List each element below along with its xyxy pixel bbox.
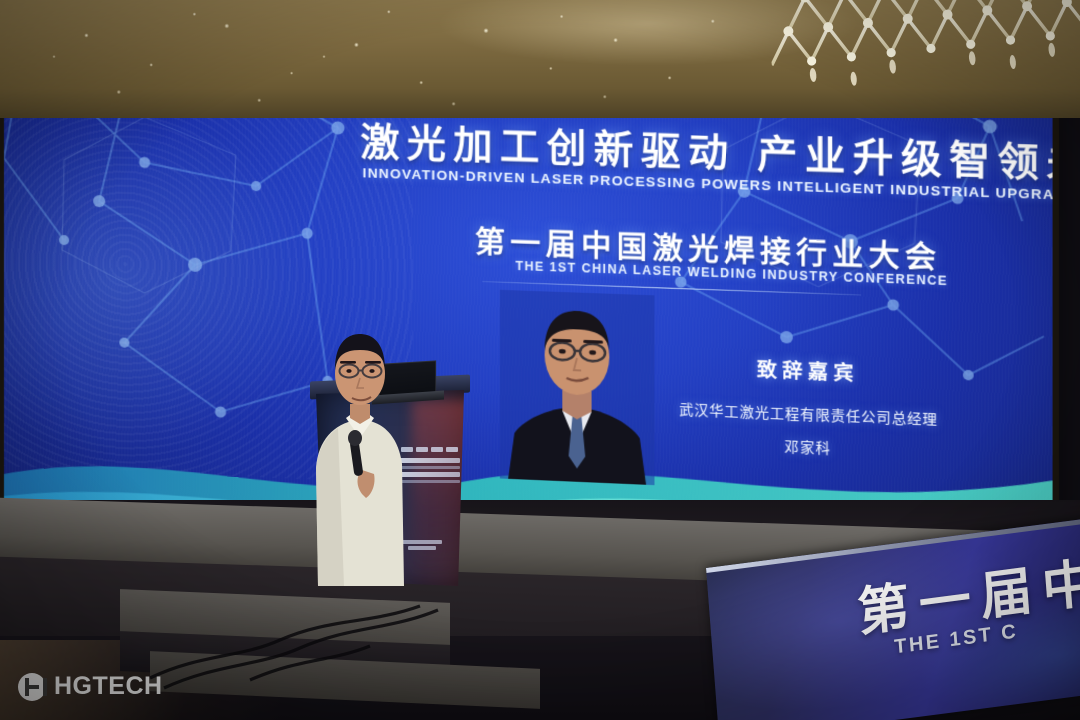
presenter-person [300,318,420,588]
speaker-role-label: 致辞嘉宾 [676,352,942,390]
speaker-info-block: 致辞嘉宾 武汉华工激光工程有限责任公司总经理 邓家科 [676,352,942,463]
podium-accent-light [412,400,474,580]
speaker-organization: 武汉华工激光工程有限责任公司总经理 [676,398,942,429]
floor-cables [120,600,640,720]
hgtech-brand-text: HGTECH [54,672,163,701]
conference-stage-photo: 激光加工创新驱动 产业升级智领未来 INNOVATION-DRIVEN LASE… [0,0,1080,720]
hgtech-watermark: HGTECH [18,672,163,701]
speaker-name: 邓家科 [676,431,942,463]
hgtech-circle-logo-icon [18,673,46,701]
